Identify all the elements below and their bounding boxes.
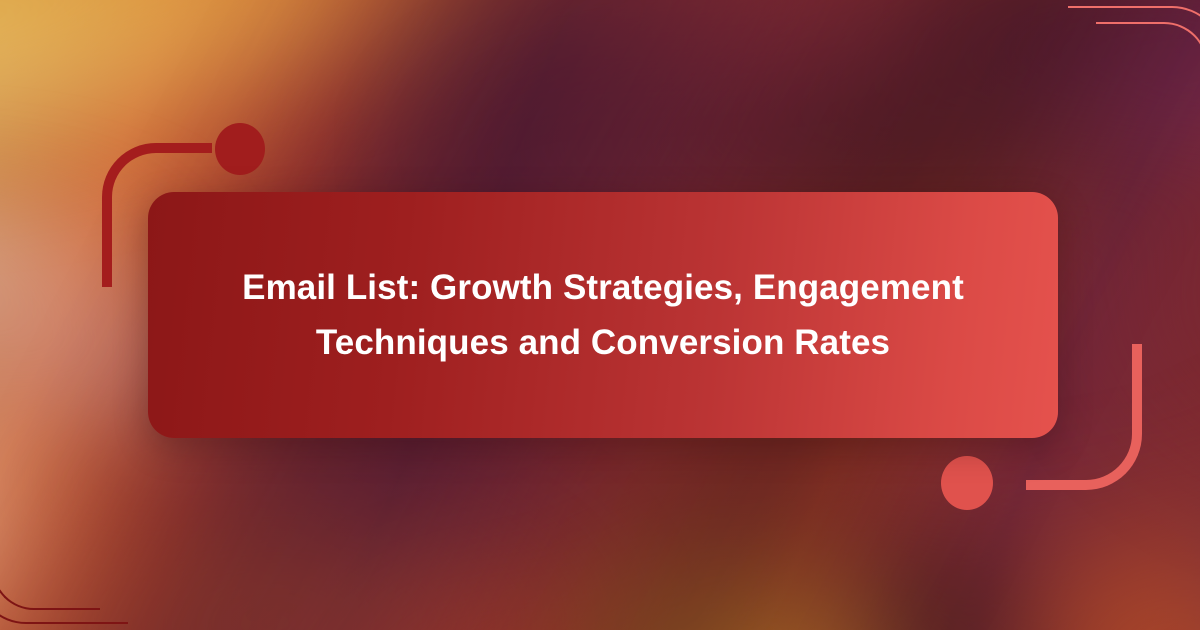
page-title: Email List: Growth Strategies, Engagemen… bbox=[148, 260, 1058, 371]
title-card: Email List: Growth Strategies, Engagemen… bbox=[148, 192, 1058, 438]
dot-top-left-icon bbox=[215, 123, 265, 175]
dot-bottom-right-icon bbox=[941, 456, 993, 510]
banner-root: Email List: Growth Strategies, Engagemen… bbox=[0, 0, 1200, 630]
